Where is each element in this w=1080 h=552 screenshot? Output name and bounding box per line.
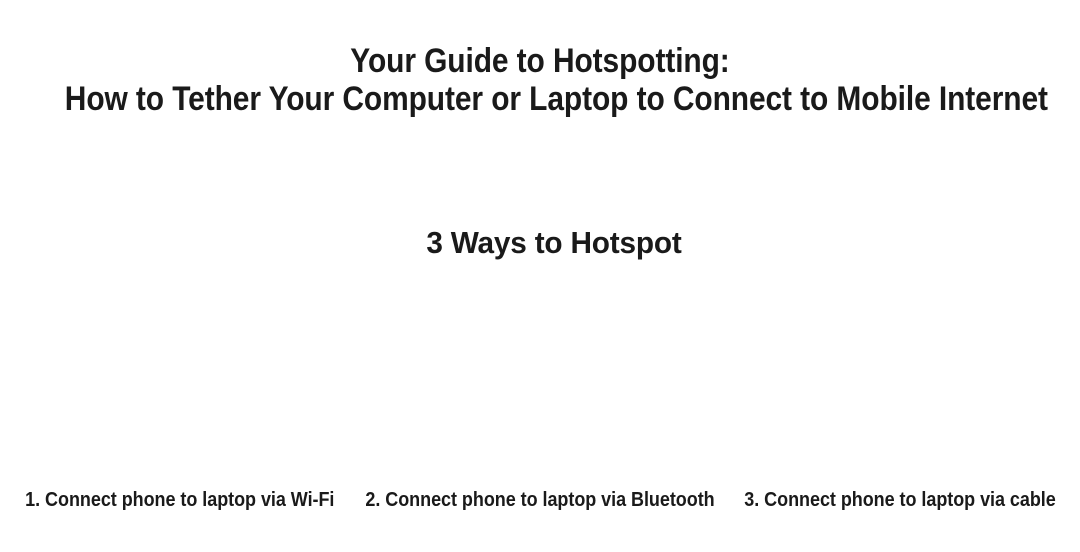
method-caption-row: 1. Connect phone to laptop via Wi-Fi 2. … bbox=[0, 488, 1080, 520]
method-caption: 2. Connect phone to laptop via Bluetooth bbox=[365, 488, 714, 512]
method-caption: 3. Connect phone to laptop via cable bbox=[744, 488, 1055, 512]
illustration-band bbox=[0, 272, 1080, 484]
method-caption: 1. Connect phone to laptop via Wi-Fi bbox=[25, 488, 334, 512]
method-item: 1. Connect phone to laptop via Wi-Fi bbox=[0, 488, 360, 520]
section-heading-container: 3 Ways to Hotspot bbox=[0, 224, 1080, 262]
bluetooth-tethering-illustration bbox=[360, 272, 720, 484]
page-title-line-1: Your Guide to Hotspotting: bbox=[65, 42, 1015, 80]
cable-tethering-illustration bbox=[720, 272, 1080, 484]
infographic-page: Your Guide to Hotspotting: How to Tether… bbox=[0, 0, 1080, 552]
method-item: 2. Connect phone to laptop via Bluetooth bbox=[360, 488, 720, 520]
page-title: Your Guide to Hotspotting: How to Tether… bbox=[0, 42, 1080, 118]
page-title-line-2: How to Tether Your Computer or Laptop to… bbox=[65, 80, 1015, 118]
method-item: 3. Connect phone to laptop via cable bbox=[720, 488, 1080, 520]
wifi-tethering-illustration bbox=[0, 272, 360, 484]
section-heading: 3 Ways to Hotspot bbox=[426, 224, 681, 262]
